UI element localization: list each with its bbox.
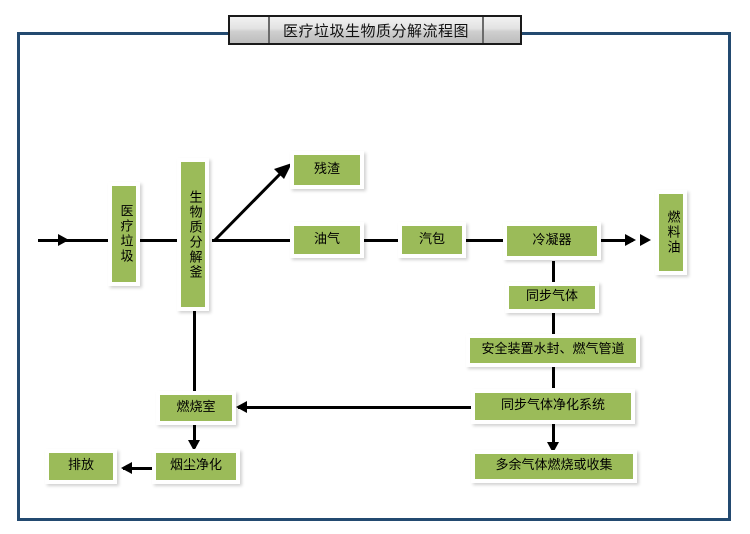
node-excess-gas[interactable]: 多余气体燃烧或收集: [471, 450, 637, 483]
node-condenser[interactable]: 冷凝器: [503, 222, 601, 260]
node-residue-label: 残渣: [294, 155, 360, 185]
connector-condenser-to-syncgas: [552, 261, 555, 283]
node-emission-label: 排放: [49, 453, 113, 480]
connector-reactor-to-residue: [210, 160, 300, 250]
node-excess-gas-label: 多余气体燃烧或收集: [475, 454, 633, 479]
node-sync-gas[interactable]: 同步气体: [505, 282, 599, 313]
node-smoke-purify[interactable]: 烟尘净化: [152, 449, 240, 484]
node-fuel-oil-label: 燃料油: [659, 194, 683, 271]
node-residue[interactable]: 残渣: [290, 151, 364, 189]
node-combustion-chamber[interactable]: 燃烧室: [156, 391, 236, 425]
arrow-emission: [121, 462, 132, 474]
connector-drum-to-condenser: [466, 239, 504, 242]
node-fuel-oil[interactable]: 燃料油: [655, 190, 687, 275]
node-oil-gas[interactable]: 油气: [290, 222, 364, 258]
connector-safety-to-purify: [552, 366, 555, 388]
node-smoke-purify-label: 烟尘净化: [156, 453, 236, 480]
node-sync-gas-label: 同步气体: [509, 286, 595, 309]
node-steam-drum-label: 汽包: [402, 226, 462, 254]
connector-oilgas-to-drum: [364, 239, 399, 242]
node-condenser-label: 冷凝器: [507, 226, 597, 256]
node-emission[interactable]: 排放: [45, 449, 117, 484]
connector-syncgas-to-safety: [552, 312, 555, 335]
title-bar-left-cap: [230, 17, 270, 43]
node-combustion-chamber-label: 燃烧室: [160, 395, 232, 421]
connector-entry: [38, 239, 108, 242]
node-safety-device-label: 安全装置水封、燃气管道: [470, 338, 636, 363]
flowchart-canvas: 医疗垃圾生物质分解流程图 医疗垃圾 生物质分解釜: [0, 0, 750, 534]
arrow-entry: [58, 234, 69, 246]
title-bar-right-cap: [482, 17, 520, 43]
node-steam-drum[interactable]: 汽包: [398, 222, 466, 258]
node-biomass-reactor-label: 生物质分解釜: [181, 162, 205, 307]
connector-reactor-to-combustion: [193, 311, 196, 392]
node-medical-waste-label: 医疗垃圾: [112, 186, 136, 282]
arrow-fueloil-2: [640, 234, 651, 246]
connector-purify-to-combustion: [238, 406, 472, 409]
arrow-fueloil-1: [625, 234, 636, 246]
node-safety-device[interactable]: 安全装置水封、燃气管道: [466, 334, 640, 367]
arrow-combustion: [236, 401, 247, 413]
node-biomass-reactor[interactable]: 生物质分解釜: [177, 158, 209, 311]
node-oil-gas-label: 油气: [294, 226, 360, 254]
title-bar: 医疗垃圾生物质分解流程图: [228, 15, 522, 45]
diagram-title: 医疗垃圾生物质分解流程图: [270, 17, 482, 43]
node-sync-gas-purify-label: 同步气体净化系统: [475, 393, 631, 420]
node-medical-waste[interactable]: 医疗垃圾: [108, 182, 140, 286]
node-sync-gas-purify[interactable]: 同步气体净化系统: [471, 389, 635, 424]
